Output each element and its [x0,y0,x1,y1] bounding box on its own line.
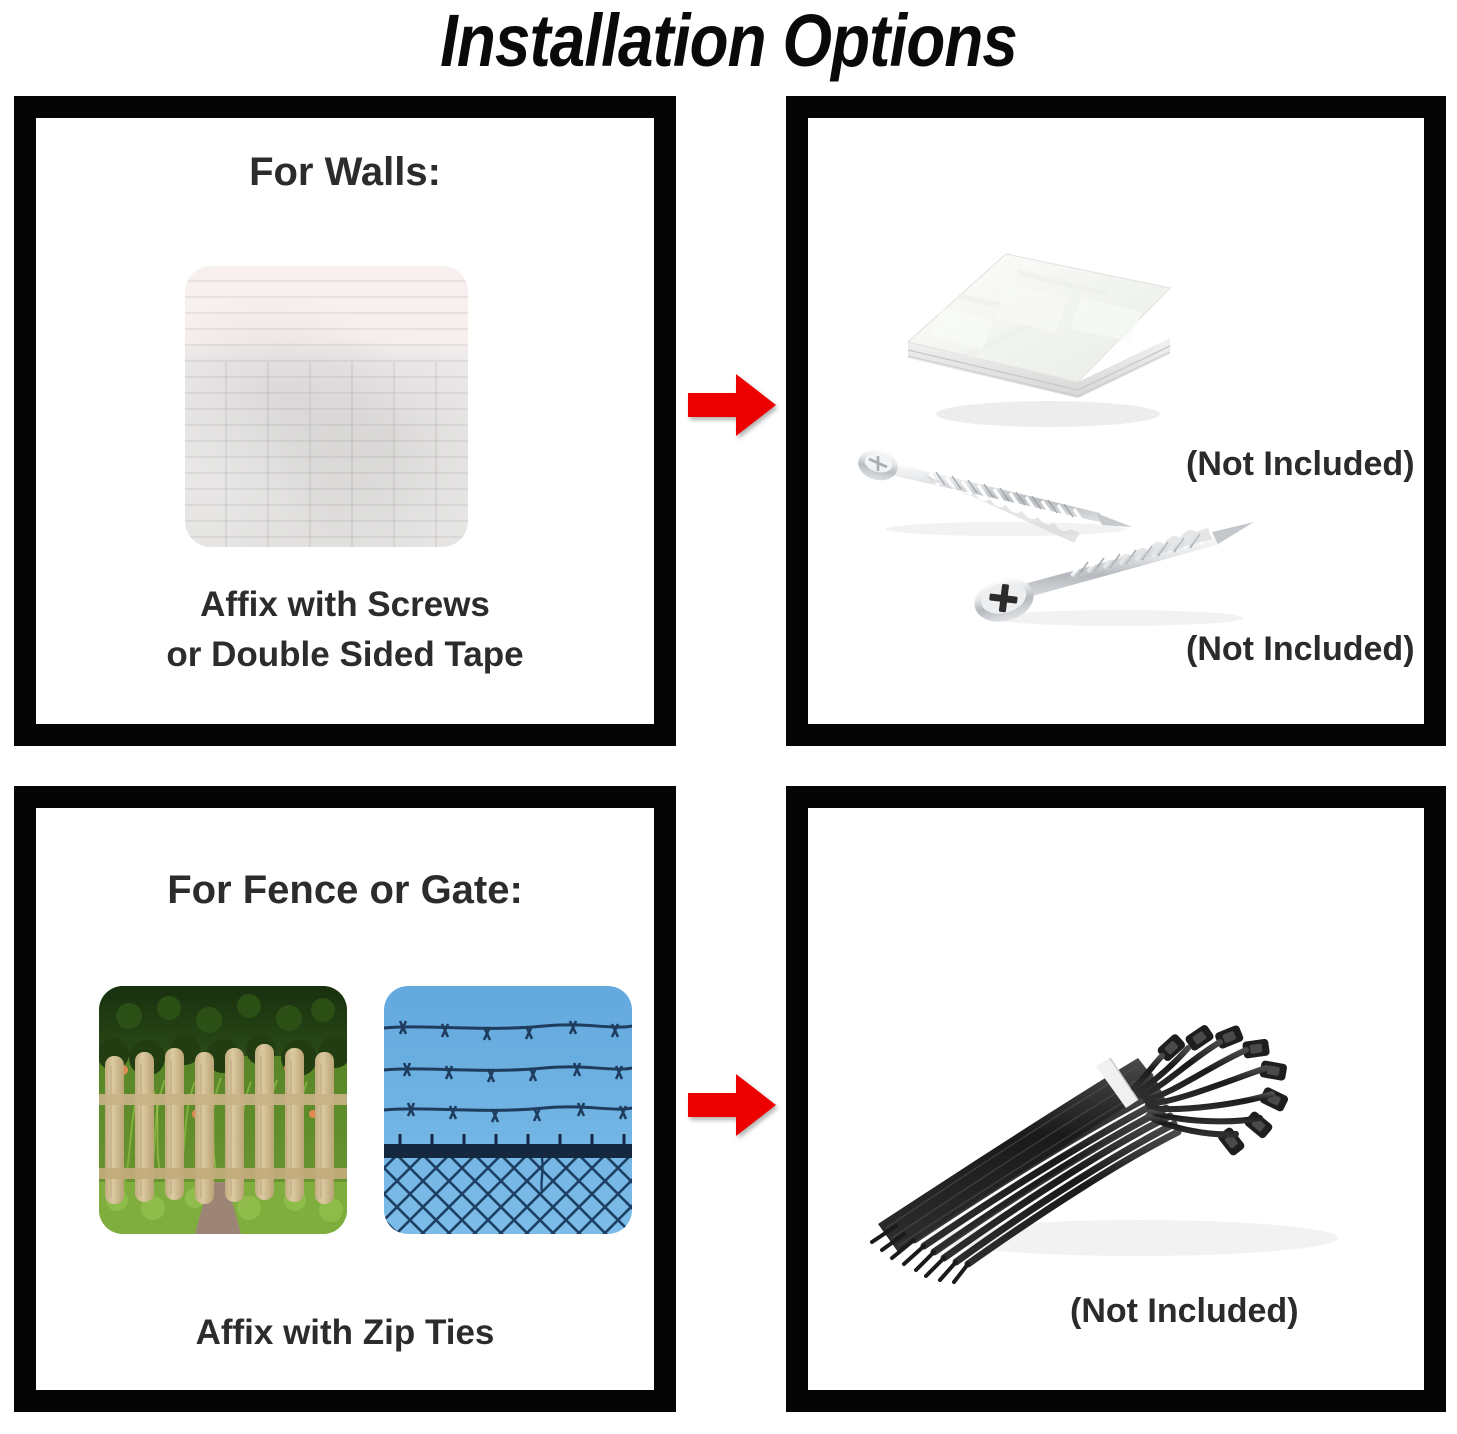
brick-vertical-joints [185,362,468,547]
wood-screw-icon-lower [968,518,1258,633]
panel-for-fence-inner: For Fence or Gate: [36,808,654,1390]
screws-not-included-label: (Not Included) [1186,630,1415,669]
panel-fence-hardware: (Not Included) [786,786,1446,1412]
caption-walls-line-2: or Double Sided Tape [36,630,654,680]
panel-for-walls-inner: For Walls: Affix with Screws or Double S… [36,118,654,724]
double-sided-tape-stack-icon [898,246,1188,431]
caption-walls-line-1: Affix with Screws [36,580,654,630]
caption-fence-line-1: Affix with Zip Ties [36,1308,654,1358]
panel-heading-fence: For Fence or Gate: [36,868,654,913]
panel-wall-hardware-inner: (Not Included) [808,118,1424,724]
chain-link-barbed-wire-fence-image [384,986,632,1234]
panel-heading-walls: For Walls: [36,150,654,195]
panel-wall-hardware: (Not Included) [786,96,1446,746]
red-right-arrow-bottom [688,1072,776,1138]
panel-for-walls: For Walls: Affix with Screws or Double S… [14,96,676,746]
panel-fence-hardware-inner: (Not Included) [808,808,1424,1390]
panel-for-fence-or-gate: For Fence or Gate: [14,786,676,1412]
zip-ties-not-included-label: (Not Included) [1070,1292,1299,1331]
tape-not-included-label: (Not Included) [1186,445,1415,484]
red-right-arrow-top [688,372,776,438]
white-brick-wall-image [185,266,468,547]
black-zip-ties-bundle-icon [838,908,1378,1308]
wooden-picket-fence-image [99,986,347,1234]
installation-options-grid: For Walls: Affix with Screws or Double S… [0,0,1457,1434]
